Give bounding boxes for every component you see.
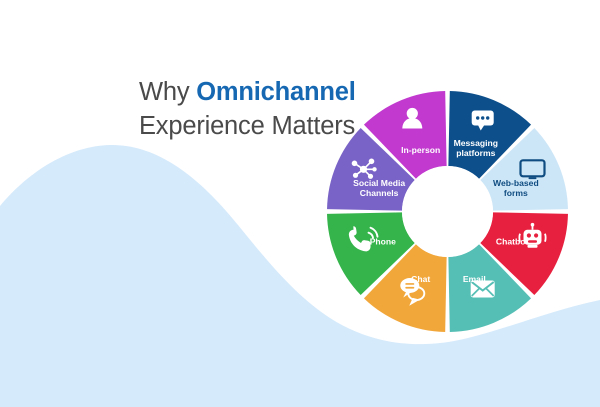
segment-label-phone: Phone <box>370 236 396 246</box>
infographic-canvas: Why Omnichannel Experience Matters Messa… <box>0 0 600 407</box>
segment-label-social-media-channels: Social MediaChannels <box>353 178 405 198</box>
segment-label-in-person: In-person <box>401 145 440 155</box>
donut-svg: MessagingplatformsWeb-basedformsChatbotE… <box>327 91 568 332</box>
title-prefix: Why <box>139 78 196 106</box>
page-title: Why Omnichannel Experience Matters <box>139 76 356 142</box>
omnichannel-donut-chart: MessagingplatformsWeb-basedformsChatbotE… <box>327 91 568 332</box>
title-line-1: Why Omnichannel <box>139 76 356 109</box>
segment-label-email: Email <box>463 274 486 284</box>
segment-label-chat: Chat <box>411 274 430 284</box>
donut-center-hole <box>402 166 493 257</box>
segment-label-chatbot: Chatbot <box>496 236 529 246</box>
title-line-2: Experience Matters <box>139 110 356 143</box>
segment-label-messaging-platforms: Messagingplatforms <box>454 138 498 158</box>
